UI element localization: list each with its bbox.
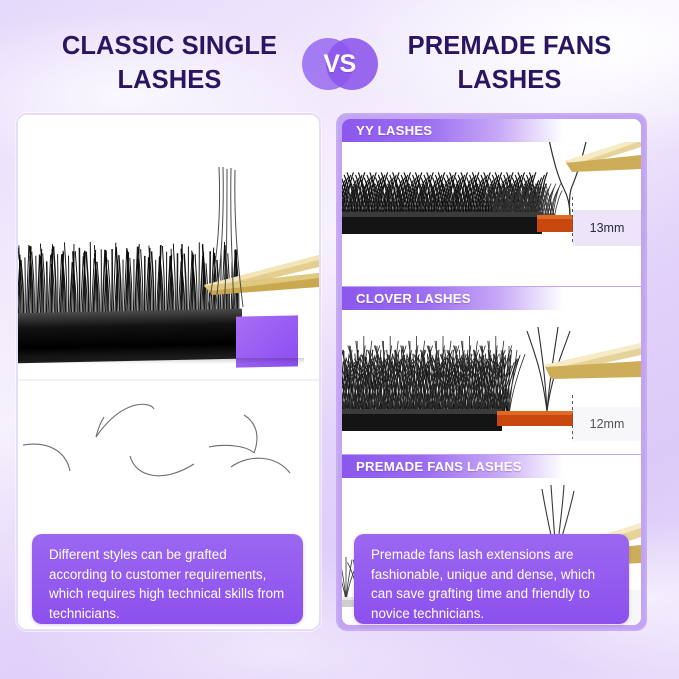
- yy-lashes-measurement-value: 13mm: [590, 221, 625, 235]
- right-caption: Premade fans lash extensions are fashion…: [354, 534, 629, 624]
- premade-fans-label: PREMADE FANS LASHES: [342, 459, 522, 474]
- yy-lashes-measurement: 13mm: [573, 210, 641, 246]
- clover-lashes-label: CLOVER LASHES: [342, 291, 471, 306]
- yy-lashes-row: YY LASHES 13mm: [342, 119, 641, 286]
- clover-lashes-measurement-value: 12mm: [590, 417, 625, 431]
- lash-strip-shadow: [18, 358, 304, 364]
- yy-measure-tick: [572, 197, 573, 245]
- vs-badge: VS: [299, 34, 381, 94]
- single-lash-curves: [18, 381, 319, 534]
- clover-lashes-measurement: 12mm: [573, 407, 641, 441]
- vs-label: VS: [323, 50, 355, 79]
- yy-lashes-label: YY LASHES: [342, 123, 432, 138]
- comparison-header: CLASSIC SINGLE LASHES VS PREMADE FANS LA…: [0, 26, 679, 102]
- right-title: PREMADE FANS LASHES: [381, 30, 639, 98]
- clover-lashes-label-band: CLOVER LASHES: [342, 287, 641, 310]
- clover-lashes-row: CLOVER LASHES 12mm: [342, 287, 641, 454]
- classic-lash-tray-photo: [18, 115, 319, 380]
- left-title: CLASSIC SINGLE LASHES: [41, 30, 299, 98]
- lash-strip-base: [18, 309, 242, 364]
- left-caption: Different styles can be grafted accordin…: [32, 534, 303, 624]
- individual-lashes-photo: [18, 381, 319, 534]
- premade-fans-label-band: PREMADE FANS LASHES: [342, 455, 641, 478]
- clover-measure-tick: [572, 395, 573, 439]
- yy-lashes-label-band: YY LASHES: [342, 119, 641, 142]
- yy-lashes-photo: [342, 119, 641, 286]
